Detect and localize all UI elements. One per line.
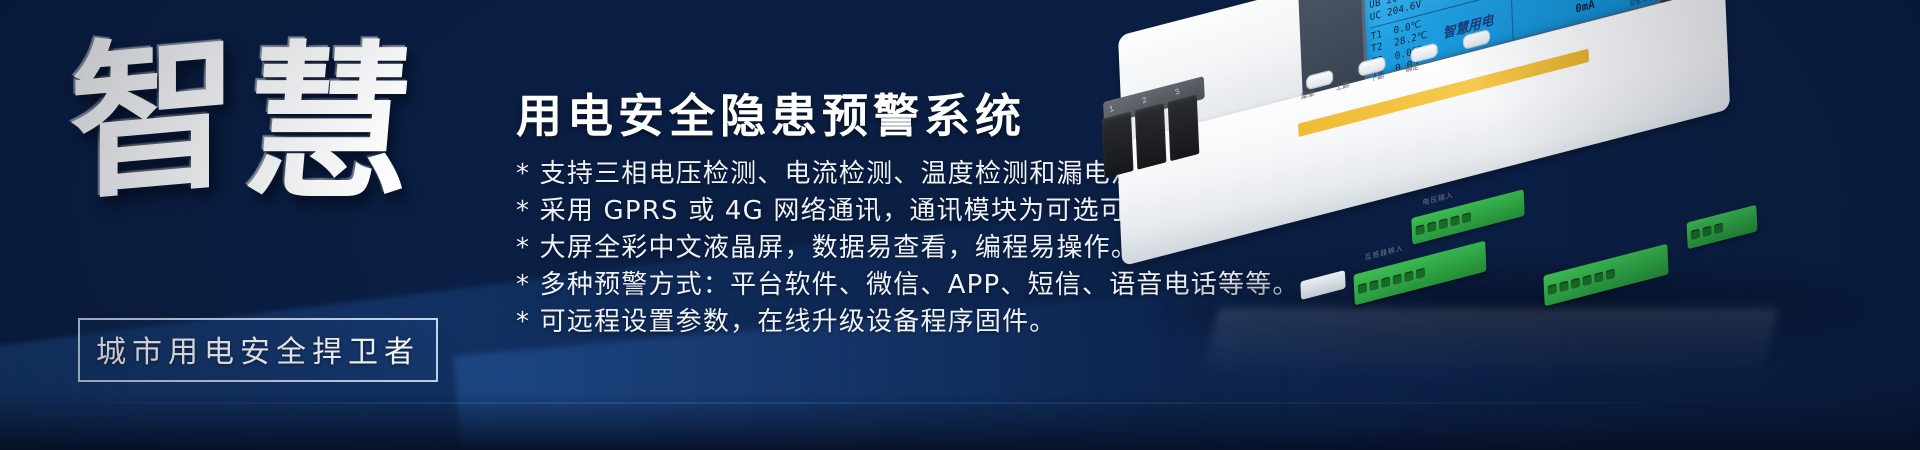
calligraphy-char-zhi: 智 <box>70 26 247 209</box>
tagline-box: 城市用电安全捍卫者 <box>78 318 438 382</box>
promo-banner: 智慧 城市用电安全捍卫者 用电安全隐患预警系统 * 支持三相电压检测、电流检测、… <box>0 0 1920 450</box>
device-reflection <box>1201 308 1778 378</box>
device-photo: UA 202.8V UB 204.4V UC 204.6V T1 0.0℃ T2… <box>1090 8 1920 408</box>
terminal-block-aux <box>1687 205 1758 250</box>
calligraphy-char-hui: 慧 <box>238 39 429 207</box>
terminal-label-voltage: 电压输入 <box>1422 190 1453 208</box>
key-label-menu: 菜单 <box>1301 89 1315 103</box>
calligraphy-title: 智慧 <box>61 20 435 282</box>
